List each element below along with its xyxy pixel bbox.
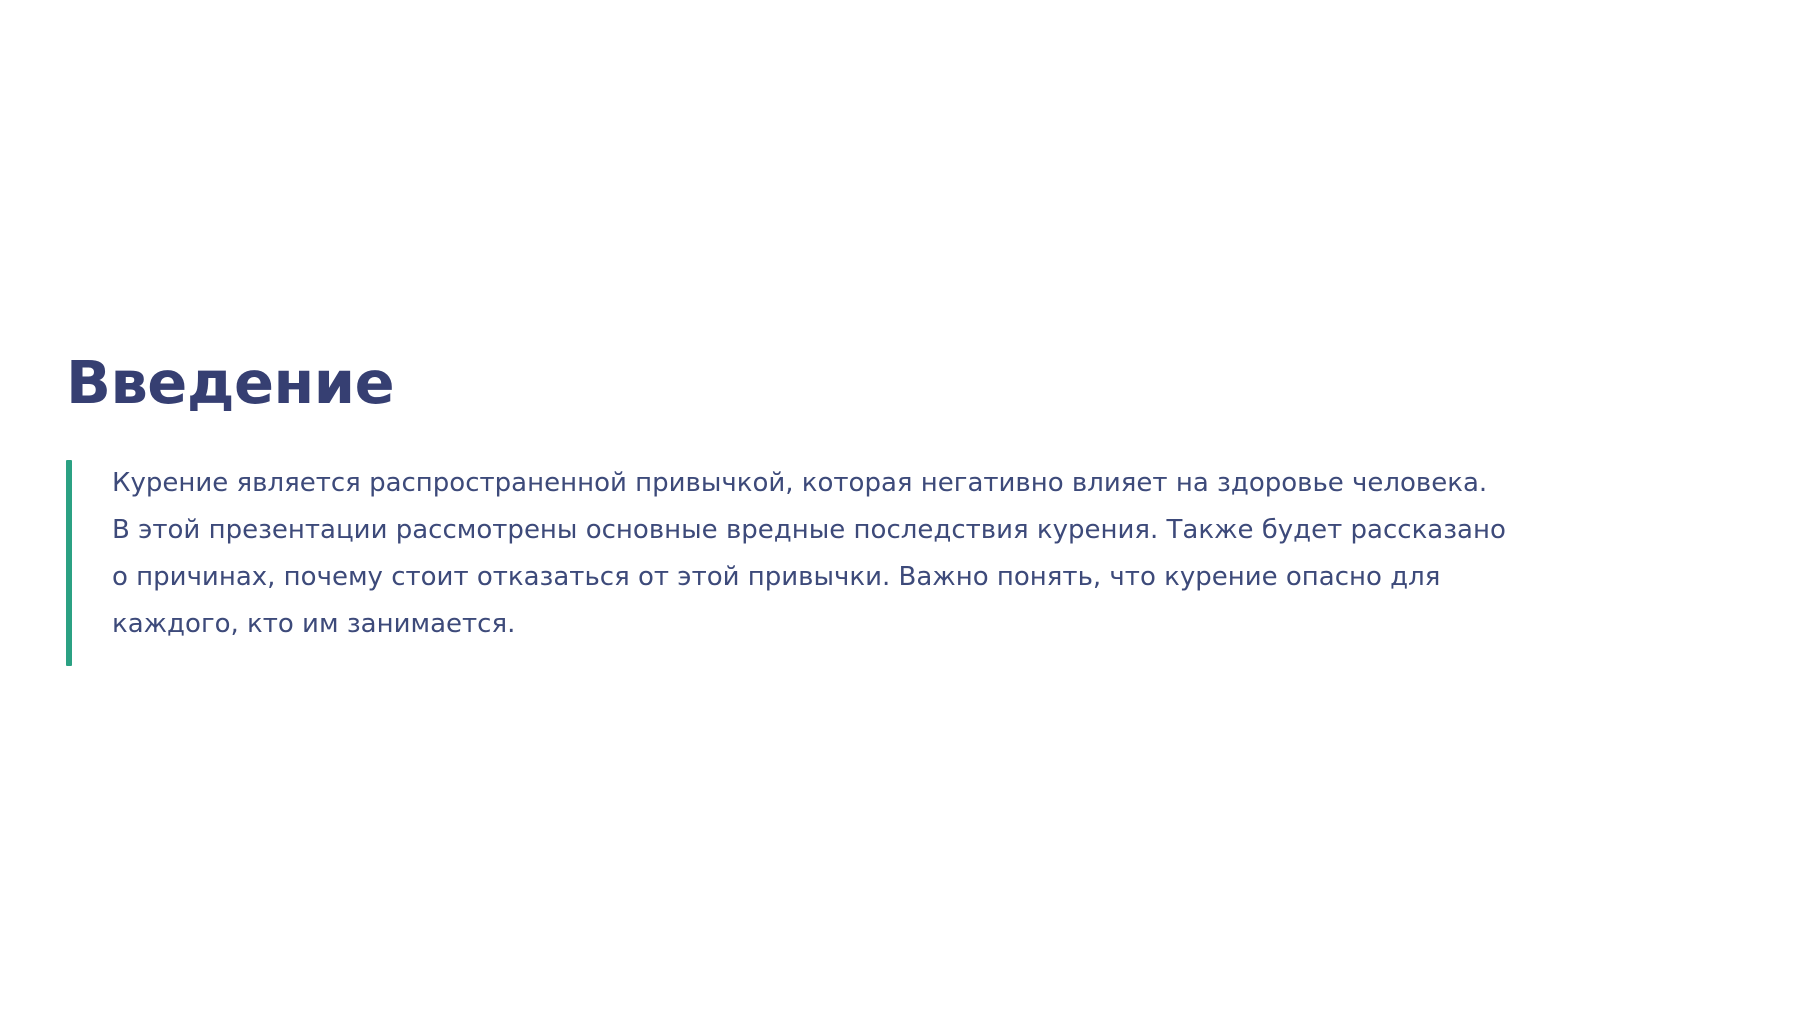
slide-content: Введение Курение является распространенн… (66, 352, 1746, 666)
body-paragraph: Курение является распространенной привыч… (72, 460, 1512, 666)
page-title: Введение (66, 352, 1746, 415)
slide-canvas: Введение Курение является распространенн… (0, 0, 1800, 1013)
body-block: Курение является распространенной привыч… (66, 460, 1746, 666)
